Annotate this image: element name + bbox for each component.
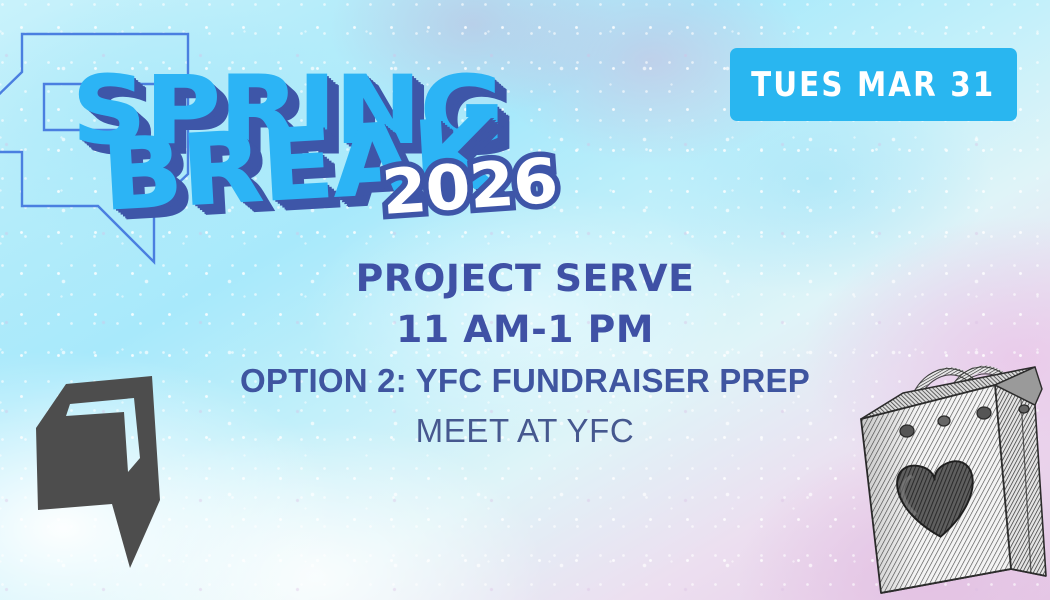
date-badge: TUES MAR 31 [730, 48, 1017, 121]
date-badge-text: TUES MAR 31 [751, 65, 995, 105]
event-time: 11 AM-1 PM [0, 304, 1050, 357]
event-heading: PROJECT SERVE [0, 255, 1050, 304]
event-option: OPTION 2: YFC FUNDRAISER PREP [0, 356, 1050, 406]
body-copy: PROJECT SERVE 11 AM-1 PM OPTION 2: YFC F… [0, 255, 1050, 455]
event-location: MEET AT YFC [0, 406, 1050, 456]
title-year: 2026 [380, 150, 559, 224]
title-lockup: SPRING BREAK 2026 [72, 72, 572, 232]
flyer-canvas: TUES MAR 31 SPRING BREAK 2026 PROJECT SE… [0, 0, 1050, 600]
